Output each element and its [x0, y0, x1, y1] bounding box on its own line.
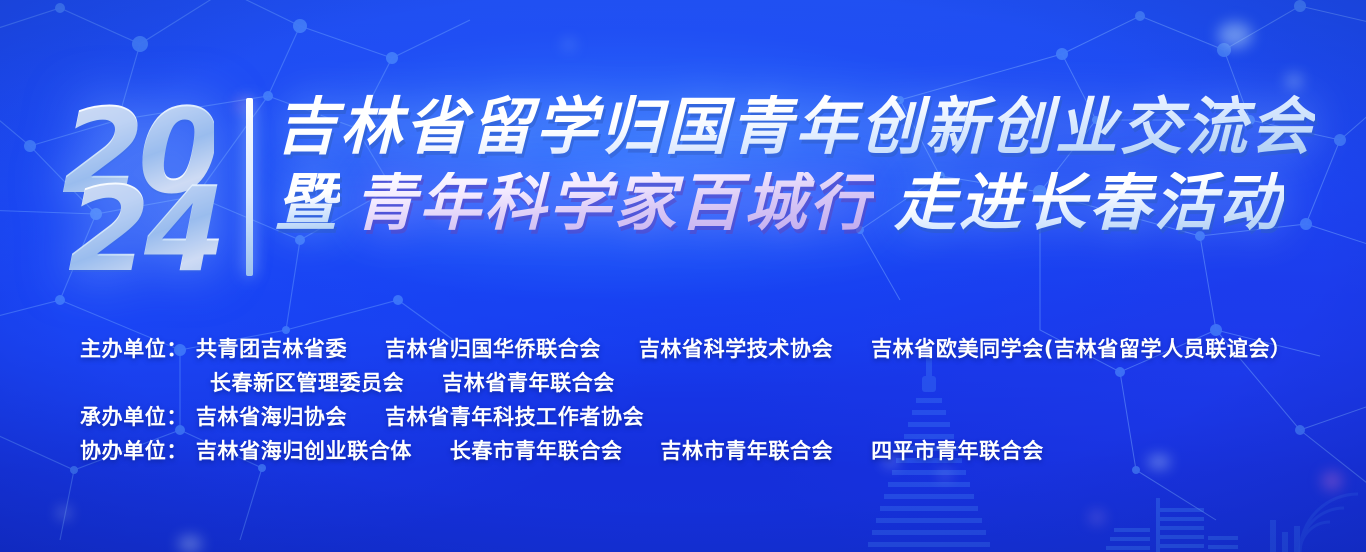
- masthead: 20 24 吉林省留学归国青年创新创业交流会 暨 青年科学家百城行 走进长春活动: [62, 92, 1315, 277]
- title-line-2-prefix: 暨: [275, 172, 340, 234]
- title-block: 吉林省留学归国青年创新创业交流会 暨 青年科学家百城行 走进长春活动: [275, 92, 1315, 234]
- organizer-item: 长春市青年联合会: [450, 434, 623, 468]
- title-line-1-text: 吉林省留学归国青年创新创业交流会: [275, 90, 1315, 163]
- bokeh-light-dot-icon: [1090, 512, 1104, 523]
- title-line-2-suffix: 走进长春活动: [894, 172, 1284, 234]
- organizer-row: 主办单位： 共青团吉林省委 吉林省归国华侨联合会 吉林省科学技术协会 吉林省欧美…: [80, 332, 1292, 366]
- organizer-item: 共青团吉林省委: [196, 332, 347, 366]
- organizer-item: 吉林省青年科技工作者协会: [385, 400, 644, 434]
- organizer-item: 吉林省青年联合会: [442, 366, 615, 400]
- title-line-2: 暨 青年科学家百城行 走进长春活动: [275, 172, 1315, 234]
- organizer-item: 吉林省海归创业联合体: [196, 434, 412, 468]
- organizer-row-label: 协办单位：: [80, 434, 188, 468]
- bokeh-light-dot-icon: [564, 40, 574, 49]
- organizer-item: 吉林省欧美同学会(吉林省留学人员联谊会）: [871, 332, 1292, 366]
- organizer-row: 承办单位： 吉林省海归协会 吉林省青年科技工作者协会: [80, 400, 1292, 434]
- title-line-2-highlight: 青年科学家百城行: [354, 172, 874, 234]
- bokeh-light-dot-icon: [58, 508, 70, 518]
- bokeh-light-dot-icon: [1218, 22, 1252, 48]
- title-divider-bar: [246, 98, 253, 276]
- organizer-credits: 主办单位： 共青团吉林省委 吉林省归国华侨联合会 吉林省科学技术协会 吉林省欧美…: [80, 332, 1292, 468]
- organizer-row: 长春新区管理委员会 吉林省青年联合会: [80, 366, 1292, 400]
- organizer-item: 吉林省海归协会: [196, 400, 347, 434]
- organizer-item: 吉林省科学技术协会: [639, 332, 833, 366]
- bokeh-light-dot-icon: [1322, 472, 1342, 490]
- organizer-item: 吉林市青年联合会: [660, 434, 833, 468]
- title-line-1: 吉林省留学归国青年创新创业交流会: [275, 96, 1315, 158]
- year-logo-bottom: 24: [68, 170, 220, 288]
- organizer-row-label: 承办单位：: [80, 400, 188, 434]
- bokeh-light-dot-icon: [178, 536, 202, 552]
- organizer-row-label: 主办单位：: [80, 332, 188, 366]
- bokeh-light-dot-icon: [1286, 74, 1302, 88]
- organizer-item: 吉林省归国华侨联合会: [385, 332, 601, 366]
- year-logo: 20 24: [62, 92, 230, 277]
- organizer-row: 协办单位： 吉林省海归创业联合体 长春市青年联合会 吉林市青年联合会 四平市青年…: [80, 434, 1292, 468]
- organizer-item: 长春新区管理委员会: [210, 366, 404, 400]
- bokeh-light-dot-icon: [940, 470, 950, 479]
- event-banner: 20 24 吉林省留学归国青年创新创业交流会 暨 青年科学家百城行 走进长春活动…: [0, 0, 1366, 552]
- organizer-item: 四平市青年联合会: [871, 434, 1044, 468]
